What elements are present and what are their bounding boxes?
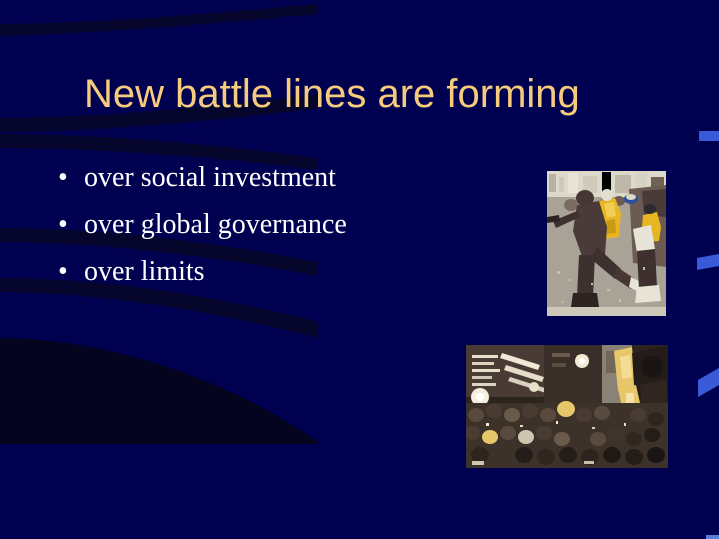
accent-mark-1 <box>699 131 719 141</box>
page-title: New battle lines are forming <box>84 70 684 118</box>
list-item-label: over global governance <box>84 209 514 241</box>
bullet-list: • over social investment • over global g… <box>44 162 514 303</box>
bullet-dot-icon: • <box>44 162 84 194</box>
bullet-dot-icon: • <box>44 209 84 241</box>
list-item-label: over limits <box>84 256 514 288</box>
bottom-edge-sliver <box>706 535 719 539</box>
list-item: • over global governance <box>44 209 514 241</box>
night-crowd-photo <box>466 345 668 468</box>
decor-wedge <box>0 338 318 444</box>
accent-mark-3 <box>698 368 719 397</box>
list-item: • over social investment <box>44 162 514 194</box>
presentation-slide: New battle lines are forming • over soci… <box>0 0 719 539</box>
list-item-label: over social investment <box>84 162 514 194</box>
decor-line-1 <box>0 4 318 36</box>
list-item: • over limits <box>44 256 514 288</box>
bullet-dot-icon: • <box>44 256 84 288</box>
riot-police-kick-photo <box>547 171 666 316</box>
accent-mark-2 <box>697 254 719 270</box>
